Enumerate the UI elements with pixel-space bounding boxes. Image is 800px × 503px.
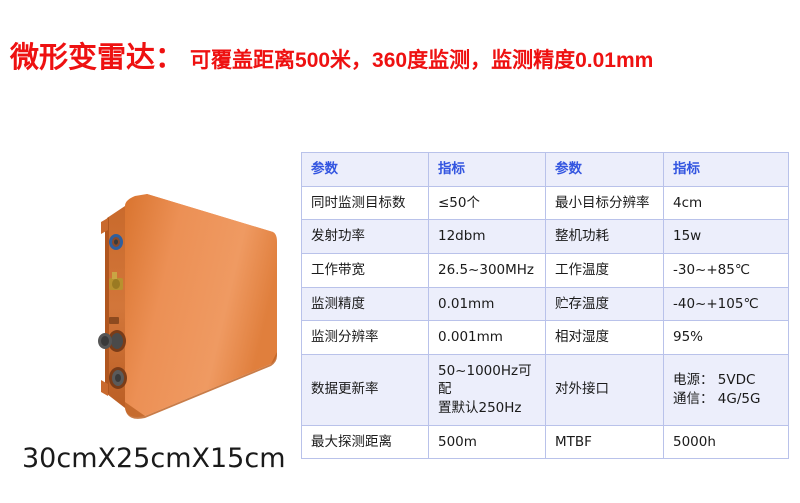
table-row: 数据更新率 50~1000Hz可配 置默认250Hz 对外接口 电源： 5VDC… bbox=[302, 354, 789, 425]
cell-value-a: 26.5~300MHz bbox=[429, 253, 546, 287]
dark-circular-connector-2-icon bbox=[109, 367, 127, 389]
header-param-b: 参数 bbox=[546, 153, 664, 187]
cell-value-a: 12dbm bbox=[429, 220, 546, 254]
header-value-b: 指标 bbox=[664, 153, 789, 187]
cell-param-a: 同时监测目标数 bbox=[302, 186, 429, 220]
cell-value-b: -30~+85℃ bbox=[664, 253, 789, 287]
cell-param-a: 数据更新率 bbox=[302, 354, 429, 425]
device-dimensions-caption: 30cmX25cmX15cm bbox=[22, 443, 286, 474]
table-row: 同时监测目标数 ≤50个 最小目标分辨率 4cm bbox=[302, 186, 789, 220]
cell-param-b: 工作温度 bbox=[546, 253, 664, 287]
cell-value-a: 0.01mm bbox=[429, 287, 546, 321]
blue-ring-port-icon bbox=[109, 234, 123, 250]
header-param-a: 参数 bbox=[302, 153, 429, 187]
cell-param-a: 监测分辨率 bbox=[302, 321, 429, 355]
table-row: 最大探测距离 500m MTBF 5000h bbox=[302, 425, 789, 459]
spec-table: 参数 指标 参数 指标 同时监测目标数 ≤50个 最小目标分辨率 4cm 发射功… bbox=[301, 152, 789, 459]
title-main-text: 微形变雷达： bbox=[10, 44, 184, 73]
cell-param-b: 整机功耗 bbox=[546, 220, 664, 254]
cell-value-a: ≤50个 bbox=[429, 186, 546, 220]
cell-param-b: 对外接口 bbox=[546, 354, 664, 425]
cell-value-b: 4cm bbox=[664, 186, 789, 220]
spec-table-container: 参数 指标 参数 指标 同时监测目标数 ≤50个 最小目标分辨率 4cm 发射功… bbox=[301, 152, 788, 459]
cell-value-a: 500m bbox=[429, 425, 546, 459]
table-row: 工作带宽 26.5~300MHz 工作温度 -30~+85℃ bbox=[302, 253, 789, 287]
cell-param-a: 发射功率 bbox=[302, 220, 429, 254]
table-row: 监测分辨率 0.001mm 相对湿度 95% bbox=[302, 321, 789, 355]
device-label-chip bbox=[109, 317, 119, 324]
table-header-row: 参数 指标 参数 指标 bbox=[302, 153, 789, 187]
cell-value-b: 95% bbox=[664, 321, 789, 355]
cell-param-b: 相对湿度 bbox=[546, 321, 664, 355]
header-value-a: 指标 bbox=[429, 153, 546, 187]
table-row: 监测精度 0.01mm 贮存温度 -40~+105℃ bbox=[302, 287, 789, 321]
cell-param-b: 最小目标分辨率 bbox=[546, 186, 664, 220]
radar-device-image bbox=[95, 180, 285, 430]
cell-value-b: 15w bbox=[664, 220, 789, 254]
cell-param-b: 贮存温度 bbox=[546, 287, 664, 321]
cell-param-a: 监测精度 bbox=[302, 287, 429, 321]
title-subtitle-text: 可覆盖距离500米，360度监测，监测精度0.01mm bbox=[190, 50, 653, 71]
radar-device-illustration bbox=[95, 180, 285, 430]
cell-value-b-line1: 电源： 5VDC bbox=[673, 371, 779, 390]
cell-value-a-line1: 50~1000Hz可配 bbox=[438, 362, 536, 399]
cell-value-b: 5000h bbox=[664, 425, 789, 459]
cell-param-b: MTBF bbox=[546, 425, 664, 459]
page-title: 微形变雷达： 可覆盖距离500米，360度监测，监测精度0.01mm bbox=[10, 44, 653, 73]
cell-value-a: 50~1000Hz可配 置默认250Hz bbox=[429, 354, 546, 425]
cell-value-b-line2: 通信： 4G/5G bbox=[673, 390, 779, 409]
dark-circular-connector-1-icon bbox=[98, 330, 126, 352]
cell-param-a: 最大探测距离 bbox=[302, 425, 429, 459]
cell-param-a: 工作带宽 bbox=[302, 253, 429, 287]
cell-value-b: 电源： 5VDC 通信： 4G/5G bbox=[664, 354, 789, 425]
cell-value-b: -40~+105℃ bbox=[664, 287, 789, 321]
device-front-face bbox=[125, 194, 277, 417]
table-row: 发射功率 12dbm 整机功耗 15w bbox=[302, 220, 789, 254]
cell-value-a: 0.001mm bbox=[429, 321, 546, 355]
cell-value-a-line2: 置默认250Hz bbox=[438, 399, 536, 418]
